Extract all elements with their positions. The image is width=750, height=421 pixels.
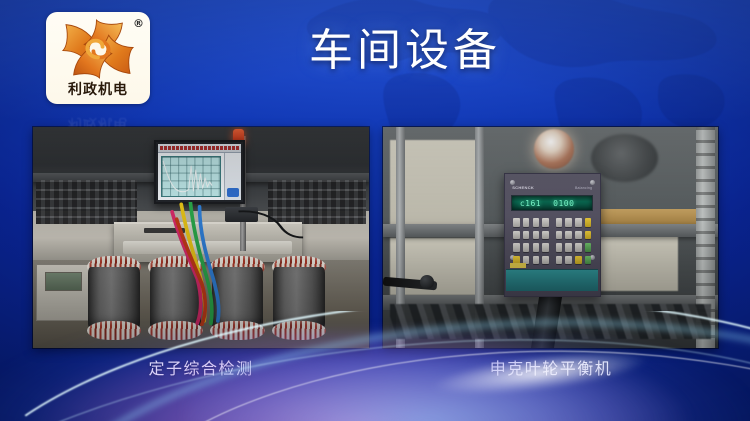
registered-trademark-icon: ® xyxy=(133,17,144,30)
company-logo: ® 利政机电 利政机电 xyxy=(46,12,154,130)
pinwheel-swirl-icon xyxy=(59,17,137,81)
bottom-swoosh-decoration xyxy=(0,311,750,421)
logo-company-name: 利政机电 xyxy=(46,79,150,99)
logo-card: ® 利政机电 xyxy=(46,12,150,104)
slide-canvas: ® 利政机电 利政机电 车间设备 xyxy=(0,0,750,421)
page-title: 车间设备 xyxy=(255,14,555,78)
